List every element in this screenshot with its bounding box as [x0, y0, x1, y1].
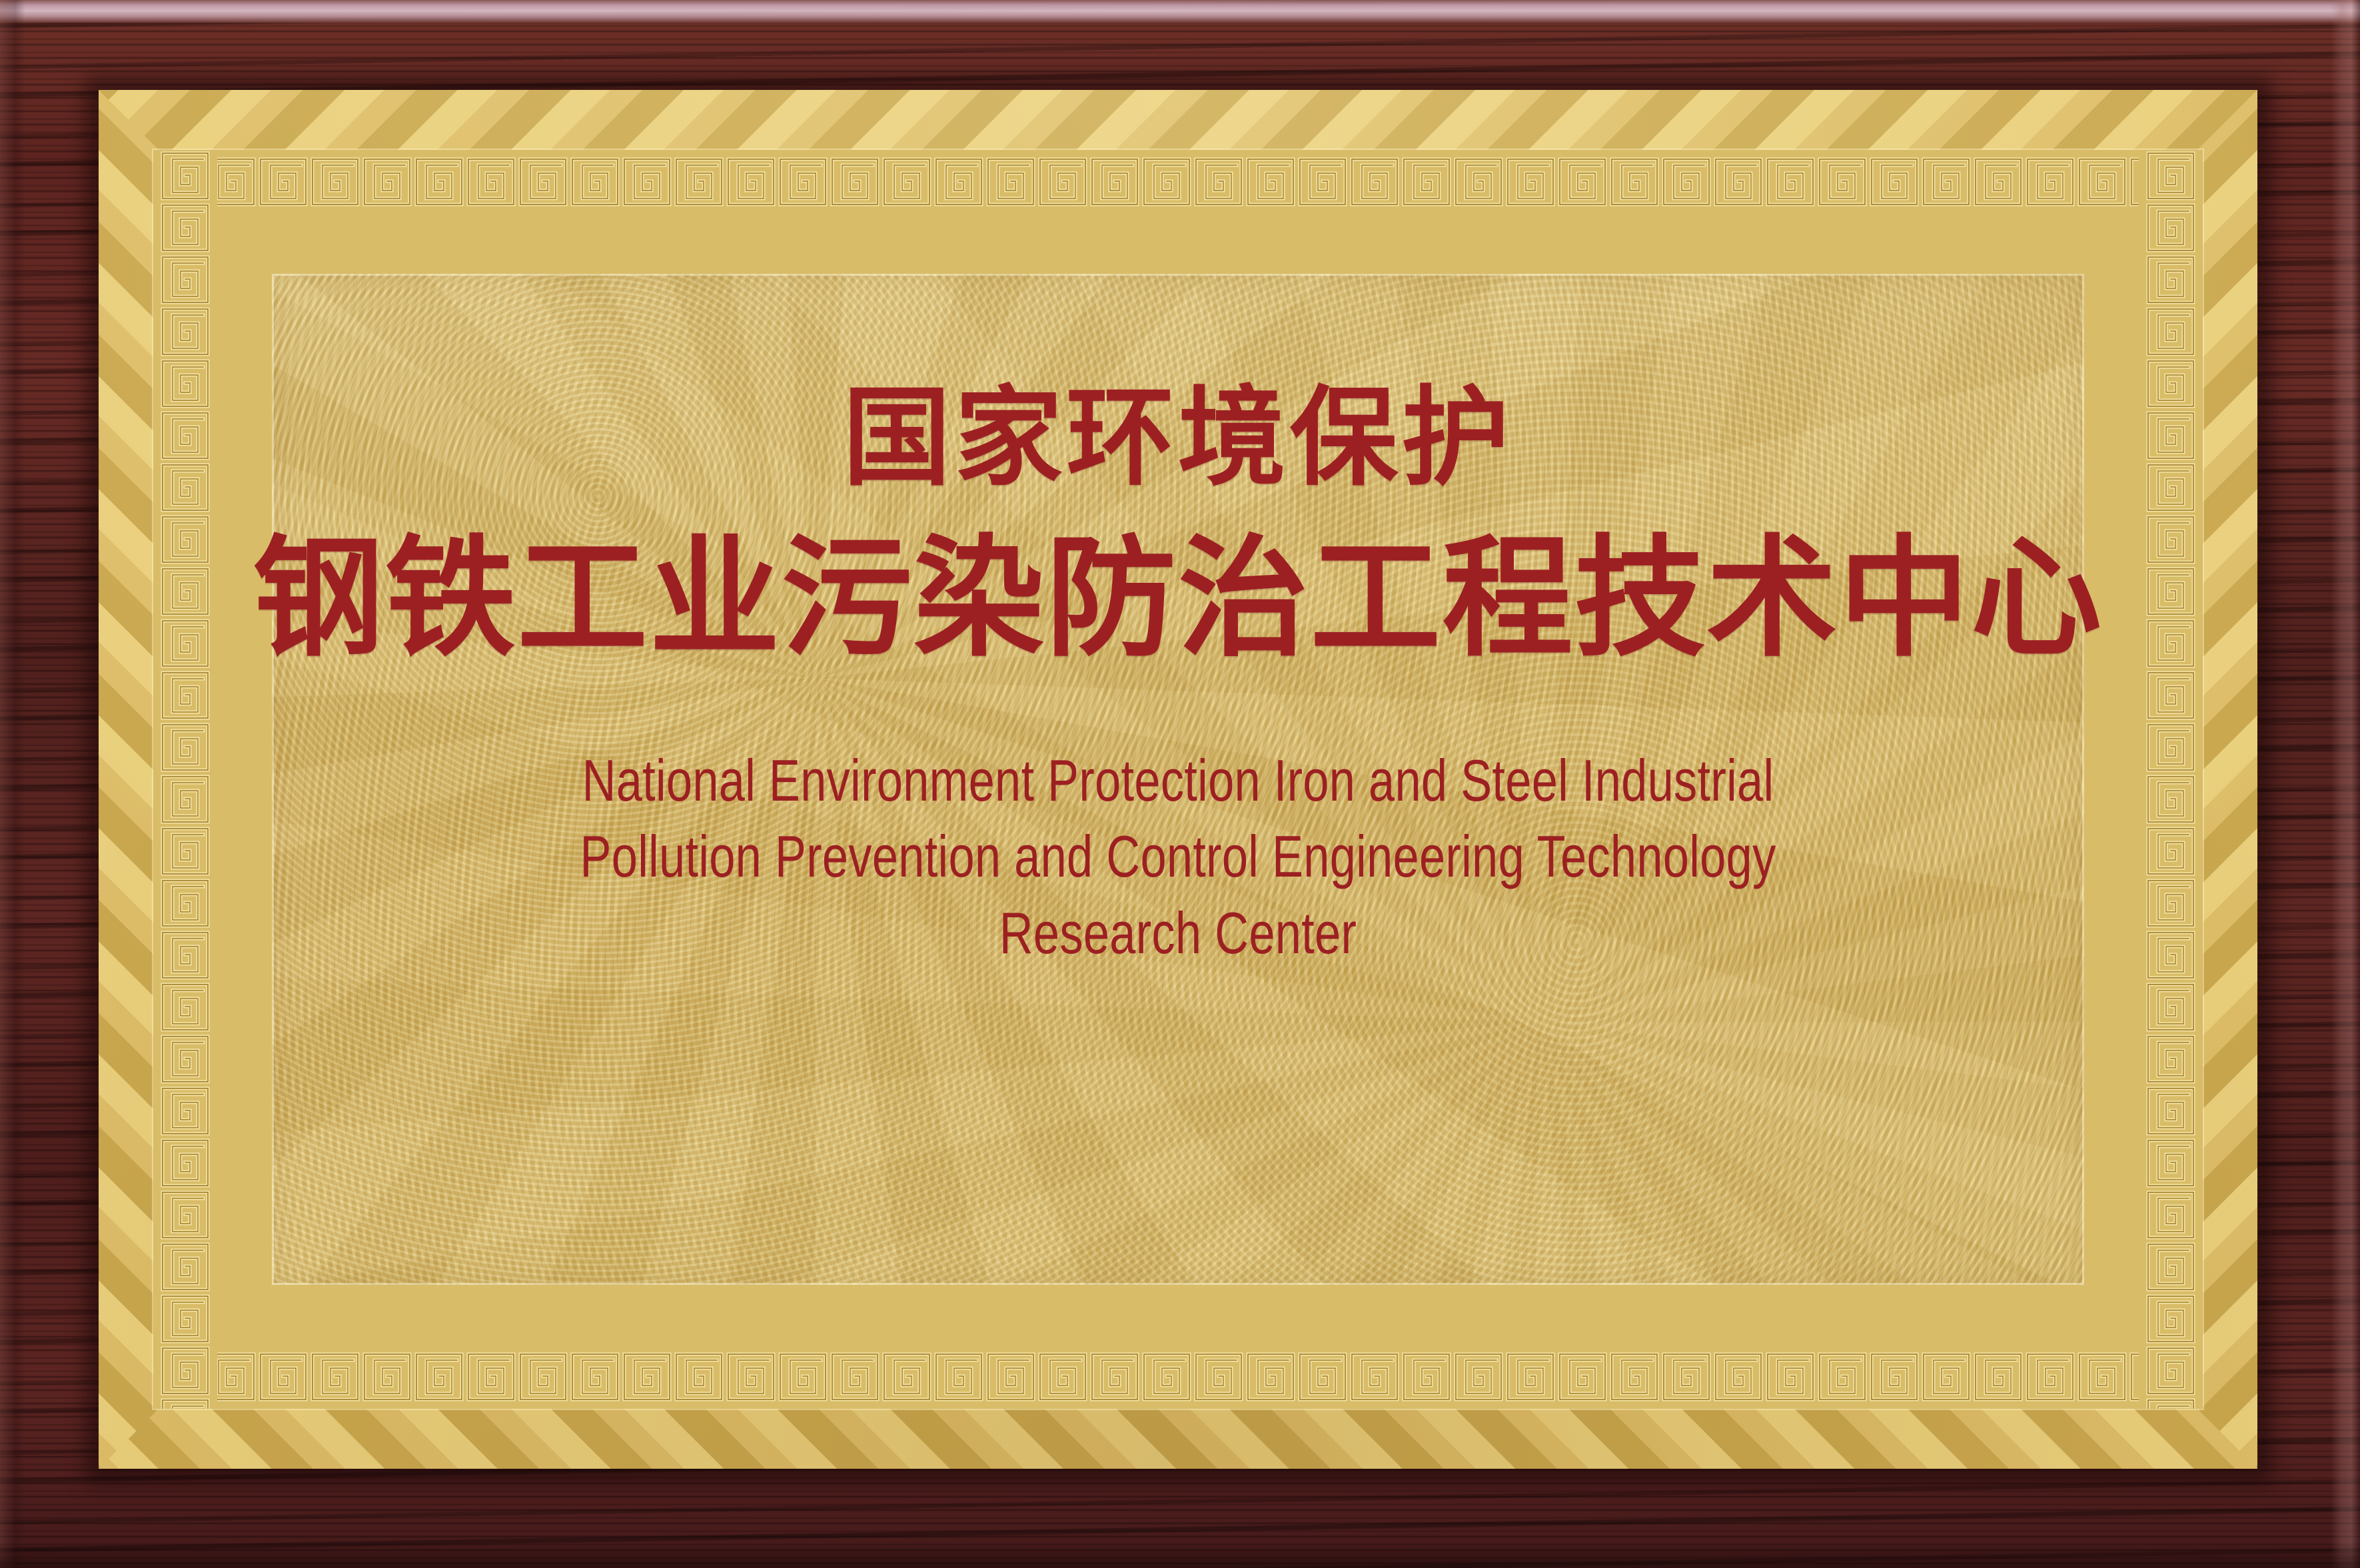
plaque-text-block: 国家环境保护 钢铁工业污染防治工程技术中心 National Environme… — [153, 150, 2203, 1409]
plaque-stage: 国家环境保护 钢铁工业污染防治工程技术中心 National Environme… — [0, 0, 2360, 1568]
meander-border-frame: 国家环境保护 钢铁工业污染防治工程技术中心 National Environme… — [153, 150, 2203, 1409]
english-subtitle-line-1: National Environment Protection Iron and… — [352, 743, 2004, 819]
chinese-title-line-1: 国家环境保护 — [843, 384, 1513, 492]
wood-bevel-left-edge — [0, 0, 25, 1568]
wood-bevel-right-edge — [2331, 0, 2360, 1568]
wood-bevel-top-edge — [0, 0, 2360, 23]
english-subtitle-line-2: Pollution Prevention and Control Enginee… — [352, 819, 2004, 895]
wood-bevel-bottom-edge — [0, 1541, 2360, 1568]
english-subtitle-line-3: Research Center — [352, 895, 2004, 971]
gold-plate: 国家环境保护 钢铁工业污染防治工程技术中心 National Environme… — [99, 90, 2257, 1469]
chinese-title-line-2: 钢铁工业污染防治工程技术中心 — [253, 534, 2103, 664]
sunburst-rays-bottom — [99, 1399, 2257, 1469]
sunburst-rays-top — [99, 90, 2257, 159]
english-subtitle: National Environment Protection Iron and… — [352, 743, 2004, 971]
